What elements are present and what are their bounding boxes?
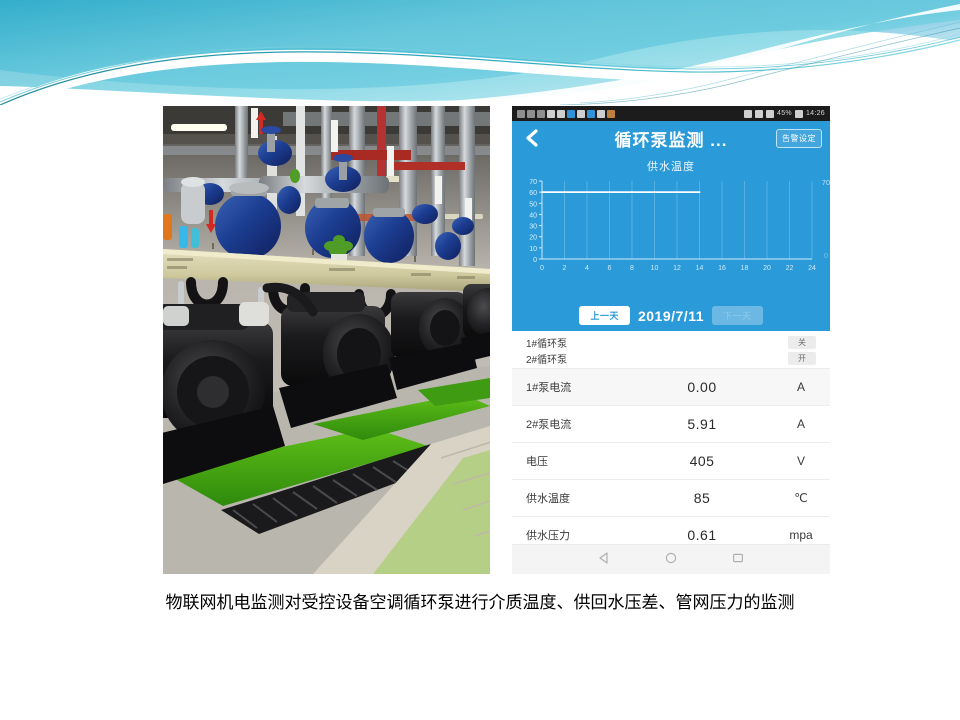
svg-text:22: 22: [786, 265, 794, 272]
pump-status-row: 1#循环泵 关: [512, 334, 830, 350]
svg-text:50: 50: [529, 201, 537, 208]
status-badge: 关: [788, 336, 816, 349]
reading-row: 供水温度 85 ℃: [512, 479, 830, 516]
phone-app-screenshot: 45% 14:26 循环泵监测 ... 告警设定 供水温度: [512, 106, 830, 574]
svg-text:70: 70: [822, 178, 830, 187]
svg-text:20: 20: [529, 235, 537, 242]
signal-icon: [557, 110, 565, 118]
svg-text:0: 0: [540, 265, 544, 272]
battery-percent-label: 45%: [777, 110, 792, 117]
svg-text:8: 8: [630, 265, 634, 272]
phone-status-bar: 45% 14:26: [512, 106, 830, 121]
svg-text:10: 10: [529, 246, 537, 253]
chart-title: 供水温度: [512, 157, 830, 175]
svg-text:0: 0: [824, 251, 828, 260]
recents-square-icon: [732, 552, 744, 564]
pump-status-label: 1#循环泵: [526, 335, 788, 350]
app-navigation-bar: 循环泵监测 ... 告警设定: [512, 121, 830, 155]
bluetooth-icon: [577, 110, 585, 118]
svg-text:70: 70: [529, 179, 537, 186]
pump-status-label: 2#循环泵: [526, 351, 788, 366]
status-bar-left-icons: [517, 110, 744, 118]
svg-text:40: 40: [529, 212, 537, 219]
reading-value: 5.91: [632, 416, 772, 432]
back-triangle-icon: [598, 552, 610, 564]
reading-label: 供水温度: [512, 490, 632, 506]
svg-text:14: 14: [696, 265, 704, 272]
app-icon: [537, 110, 545, 118]
pump-status-block: 1#循环泵 关 2#循环泵 开: [512, 331, 830, 368]
screenshot-icon: [755, 110, 763, 118]
reading-unit: A: [772, 380, 830, 394]
wifi-icon: [567, 110, 575, 118]
signal-icon: [547, 110, 555, 118]
sdcard-icon: [587, 110, 595, 118]
svg-text:6: 6: [608, 265, 612, 272]
reading-row: 电压 405 V: [512, 442, 830, 479]
reading-unit: ℃: [772, 491, 830, 505]
svg-text:4: 4: [585, 265, 589, 272]
app-icon: [517, 110, 525, 118]
svg-text:24: 24: [808, 265, 816, 272]
reading-value: 0.61: [632, 527, 772, 543]
back-button[interactable]: [520, 127, 542, 149]
svg-text:10: 10: [651, 265, 659, 272]
pump-status-row: 2#循环泵 开: [512, 350, 830, 366]
svg-text:0: 0: [533, 257, 537, 264]
svg-text:60: 60: [529, 190, 537, 197]
chart-canvas[interactable]: 010203040506070024681012141618202224700: [512, 175, 830, 281]
reading-value: 0.00: [632, 379, 772, 395]
temperature-chart-panel: 供水温度 01020304050607002468101214161820222…: [512, 155, 830, 303]
svg-text:16: 16: [718, 265, 726, 272]
slide-caption: 物联网机电监测对受控设备空调循环泵进行介质温度、供回水压差、管网压力的监测: [0, 588, 960, 613]
vibrate-icon: [607, 110, 615, 118]
reading-label: 电压: [512, 453, 632, 469]
reading-row: 1#泵电流 0.00 A: [512, 368, 830, 405]
reading-label: 1#泵电流: [512, 379, 632, 395]
next-day-button[interactable]: 下一天: [712, 306, 763, 325]
battery-icon: [795, 110, 803, 118]
android-recents-button[interactable]: [732, 551, 744, 569]
current-date-label: 2019/7/11: [638, 308, 704, 324]
reading-label: 2#泵电流: [512, 416, 632, 432]
day-navigation: 上一天 2019/7/11 下一天: [512, 303, 830, 331]
reading-row: 2#泵电流 5.91 A: [512, 405, 830, 442]
reading-value: 405: [632, 453, 772, 469]
reading-unit: V: [772, 454, 830, 468]
svg-text:12: 12: [673, 265, 681, 272]
reading-value: 85: [632, 490, 772, 506]
reading-unit: mpa: [772, 528, 830, 542]
previous-day-button[interactable]: 上一天: [579, 306, 630, 325]
svg-text:18: 18: [741, 265, 749, 272]
clock-label: 14:26: [806, 110, 825, 117]
slide-banner-decoration: [0, 0, 960, 105]
mechanical-room-photo: [163, 106, 490, 574]
reading-label: 供水压力: [512, 527, 632, 543]
alarm-settings-button[interactable]: 告警设定: [776, 129, 822, 148]
android-navigation-bar: [512, 544, 830, 574]
reading-unit: A: [772, 417, 830, 431]
android-home-button[interactable]: [665, 551, 677, 569]
alarm-icon: [597, 110, 605, 118]
home-circle-icon: [665, 552, 677, 564]
android-back-button[interactable]: [598, 551, 610, 569]
svg-text:20: 20: [763, 265, 771, 272]
app-icon: [527, 110, 535, 118]
presentation-slide: 45% 14:26 循环泵监测 ... 告警设定 供水温度: [0, 0, 960, 720]
svg-text:30: 30: [529, 224, 537, 231]
svg-text:2: 2: [563, 265, 567, 272]
headset-icon: [744, 110, 752, 118]
status-badge: 开: [788, 352, 816, 365]
chevron-left-icon: [523, 129, 539, 147]
status-bar-right-icons: 45% 14:26: [744, 110, 825, 118]
shield-icon: [766, 110, 774, 118]
